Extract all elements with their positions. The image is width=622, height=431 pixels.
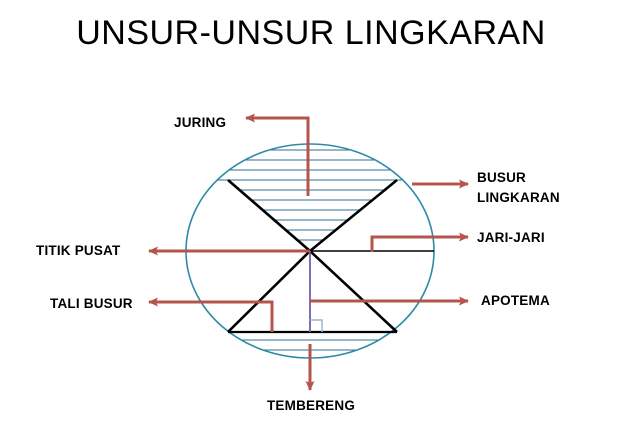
label-tali-busur: TALI BUSUR [50, 296, 133, 311]
juring-hatch-fill [186, 150, 434, 250]
triangle-arm-left [228, 251, 310, 332]
label-apotema: APOTEMA [481, 293, 550, 308]
label-tembereng: TEMBERENG [0, 398, 622, 413]
label-jari-jari: JARI-JARI [477, 230, 545, 245]
circle-diagram-canvas [0, 0, 622, 431]
triangle-arm-right [310, 251, 397, 332]
right-angle-marker-icon [310, 320, 322, 332]
sector-arm-right [310, 180, 397, 251]
pointer-juring [246, 118, 308, 196]
sector-arm-left [228, 180, 310, 251]
diagram-page: UNSUR-UNSUR LINGKARAN [0, 0, 622, 431]
label-busur-line2: LINGKARAN [477, 190, 560, 205]
label-juring: JURING [174, 115, 226, 130]
label-busur-line1: BUSUR [477, 170, 526, 185]
label-titik-pusat: TITIK PUSAT [36, 243, 120, 258]
pointer-jari-jari [372, 237, 468, 252]
